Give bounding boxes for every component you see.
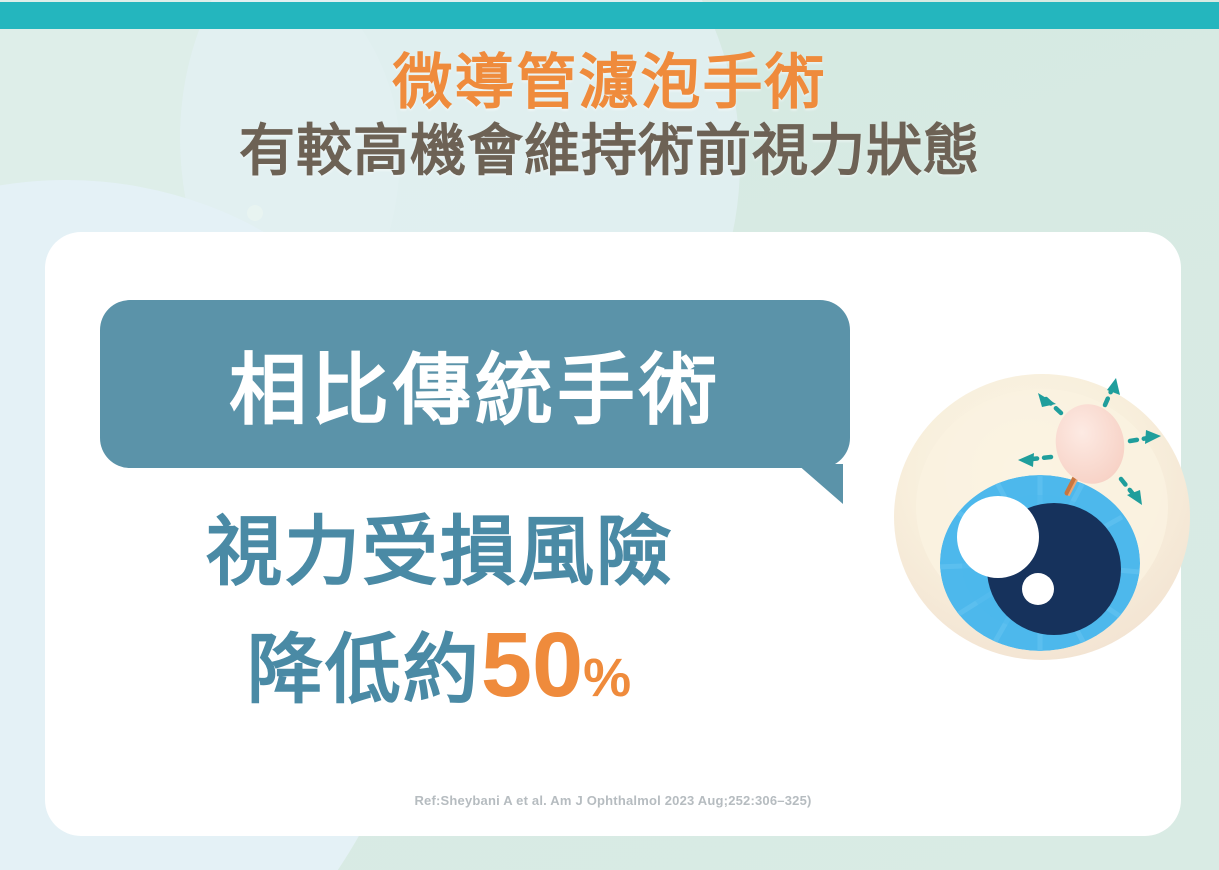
header-block: 微導管濾泡手術 有較高機會維持術前視力狀態	[0, 52, 1219, 182]
reference-citation: Ref:Sheybani A et al. Am J Ophthalmol 20…	[45, 793, 1181, 808]
statement-line-reduction: 降低約50%	[45, 613, 835, 718]
top-accent-bar	[0, 2, 1219, 29]
statement-percent-unit: %	[583, 648, 633, 708]
background-dot-large	[247, 205, 263, 221]
statement-number: 50	[481, 614, 583, 716]
speech-bubble-label: 相比傳統手術	[229, 328, 721, 440]
eye-illustration	[890, 367, 1200, 672]
highlight-large	[957, 496, 1039, 578]
page-title: 微導管濾泡手術	[0, 52, 1219, 114]
speech-bubble: 相比傳統手術	[100, 300, 850, 468]
highlight-small	[1022, 573, 1054, 605]
page-subtitle: 有較高機會維持術前視力狀態	[0, 120, 1219, 182]
speech-bubble-wrapper: 相比傳統手術	[100, 300, 850, 468]
statement-block: 視力受損風險 降低約50%	[45, 510, 835, 718]
content-card: 相比傳統手術 視力受損風險 降低約50%	[45, 232, 1181, 836]
statement-prefix: 降低約	[247, 628, 481, 713]
speech-bubble-tail	[797, 464, 843, 504]
statement-line-risk: 視力受損風險	[45, 510, 835, 597]
